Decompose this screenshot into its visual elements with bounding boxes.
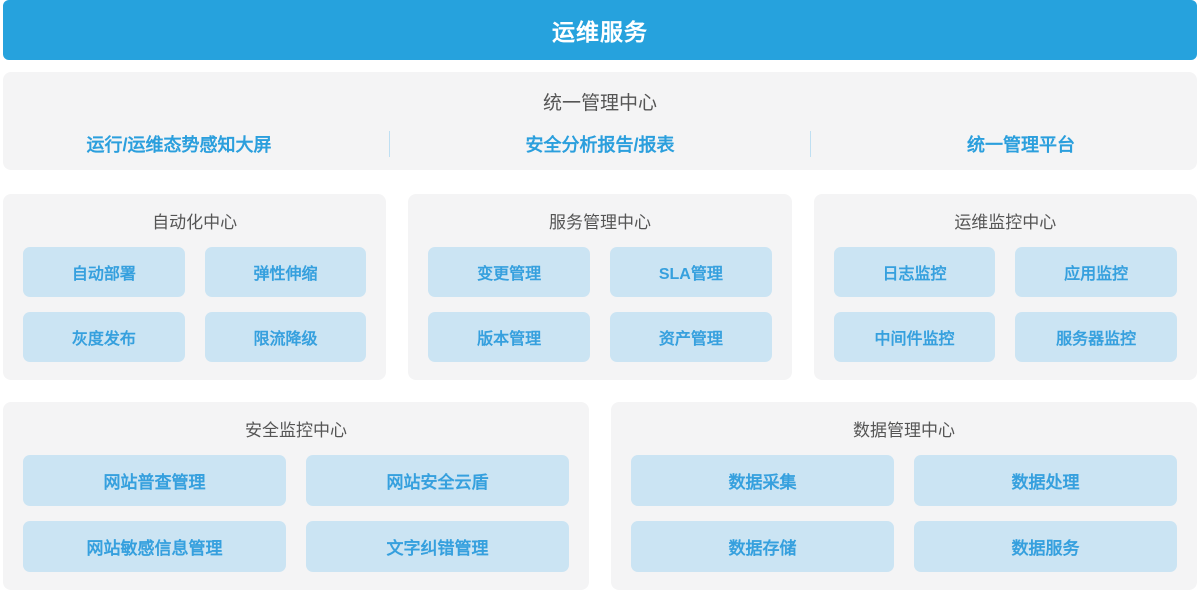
center-row-bottom: 安全监控中心 网站普查管理 网站安全云盾 网站敏感信息管理 文字纠错管理 数据管… [3,402,1197,590]
chip-sla-management[interactable]: SLA管理 [610,247,772,297]
chip-grid-service-management-center: 变更管理 SLA管理 版本管理 资产管理 [428,247,771,362]
umc-link-security-report[interactable]: 安全分析报告/报表 [450,131,750,157]
architecture-diagram: 运维服务 统一管理中心 运行/运维态势感知大屏 安全分析报告/报表 统一管理平台… [0,0,1200,602]
chip-grid-automation-center: 自动部署 弹性伸缩 灰度发布 限流降级 [23,247,366,362]
chip-rate-limit-degrade[interactable]: 限流降级 [205,312,367,362]
umc-link-situational-awareness[interactable]: 运行/运维态势感知大屏 [29,131,329,157]
chip-website-census-management[interactable]: 网站普查管理 [23,455,286,506]
panel-service-management-center: 服务管理中心 变更管理 SLA管理 版本管理 资产管理 [408,194,791,380]
panel-title-automation-center: 自动化中心 [23,208,366,233]
panel-ops-monitoring-center: 运维监控中心 日志监控 应用监控 中间件监控 服务器监控 [814,194,1197,380]
chip-grid-security-monitoring-center: 网站普查管理 网站安全云盾 网站敏感信息管理 文字纠错管理 [23,455,569,572]
chip-change-management[interactable]: 变更管理 [428,247,590,297]
page-title: 运维服务 [552,13,648,47]
chip-log-monitoring[interactable]: 日志监控 [834,247,996,297]
page-banner: 运维服务 [3,0,1197,60]
chip-elastic-scaling[interactable]: 弹性伸缩 [205,247,367,297]
panel-data-management-center: 数据管理中心 数据采集 数据处理 数据存储 数据服务 [611,402,1197,590]
chip-data-collection[interactable]: 数据采集 [631,455,894,506]
unified-management-center-panel: 统一管理中心 运行/运维态势感知大屏 安全分析报告/报表 统一管理平台 [3,72,1197,170]
chip-middleware-monitoring[interactable]: 中间件监控 [834,312,996,362]
chip-grid-ops-monitoring-center: 日志监控 应用监控 中间件监控 服务器监控 [834,247,1177,362]
chip-asset-management[interactable]: 资产管理 [610,312,772,362]
chip-auto-deploy[interactable]: 自动部署 [23,247,185,297]
unified-management-center-title: 统一管理中心 [543,88,657,115]
chip-version-management[interactable]: 版本管理 [428,312,590,362]
panel-title-ops-monitoring-center: 运维监控中心 [834,208,1177,233]
chip-website-sensitive-info-management[interactable]: 网站敏感信息管理 [23,521,286,572]
chip-application-monitoring[interactable]: 应用监控 [1015,247,1177,297]
chip-server-monitoring[interactable]: 服务器监控 [1015,312,1177,362]
unified-management-center-links: 运行/运维态势感知大屏 安全分析报告/报表 统一管理平台 [3,131,1197,157]
panel-automation-center: 自动化中心 自动部署 弹性伸缩 灰度发布 限流降级 [3,194,386,380]
panel-title-security-monitoring-center: 安全监控中心 [23,416,569,441]
chip-data-processing[interactable]: 数据处理 [914,455,1177,506]
chip-website-security-cloud-shield[interactable]: 网站安全云盾 [306,455,569,506]
chip-grid-data-management-center: 数据采集 数据处理 数据存储 数据服务 [631,455,1177,572]
center-row-top: 自动化中心 自动部署 弹性伸缩 灰度发布 限流降级 服务管理中心 变更管理 SL… [3,194,1197,380]
chip-gray-release[interactable]: 灰度发布 [23,312,185,362]
chip-text-correction-management[interactable]: 文字纠错管理 [306,521,569,572]
panel-title-service-management-center: 服务管理中心 [428,208,771,233]
umc-link-management-platform[interactable]: 统一管理平台 [871,131,1171,157]
umc-divider-2 [810,131,811,157]
panel-title-data-management-center: 数据管理中心 [631,416,1177,441]
umc-divider-1 [389,131,390,157]
chip-data-storage[interactable]: 数据存储 [631,521,894,572]
chip-data-service[interactable]: 数据服务 [914,521,1177,572]
panel-security-monitoring-center: 安全监控中心 网站普查管理 网站安全云盾 网站敏感信息管理 文字纠错管理 [3,402,589,590]
